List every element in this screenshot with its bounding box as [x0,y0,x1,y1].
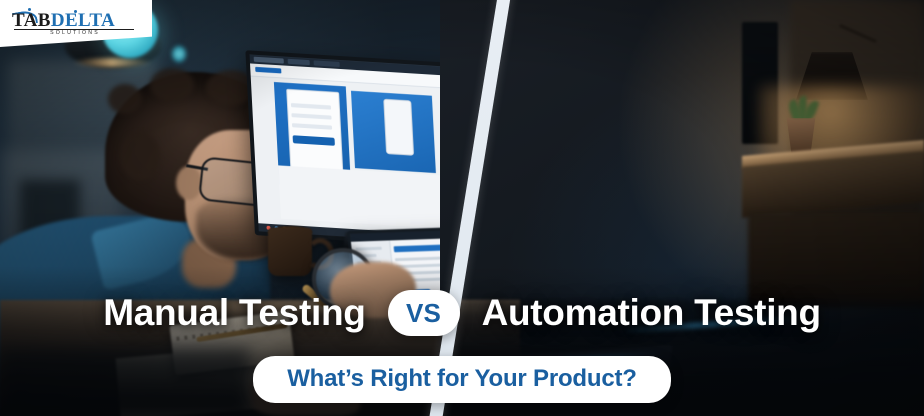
vs-label: VS [406,298,441,329]
headline-left: Manual Testing [103,292,365,334]
logo-text-delta: DELTA [51,10,115,31]
vs-badge: VS [388,290,460,336]
background-photo [0,0,924,416]
headline-right: Automation Testing [482,292,821,334]
brand-logo[interactable]: TABDELTA SOLUTIONS [12,9,144,39]
headline: Manual Testing VS Automation Testing [0,282,924,344]
logo-text-tab: TAB [12,10,51,31]
logo-tagline: SOLUTIONS [36,30,114,36]
logo-mark: TABDELTA SOLUTIONS [12,10,136,38]
cyan-lamp-secondary [172,46,186,62]
subtitle-text: What’s Right for Your Product? [287,365,637,392]
banner: TABDELTA SOLUTIONS Manual Testing VS Aut… [0,0,924,416]
subtitle-wrap: What’s Right for Your Product? [0,356,924,403]
subtitle-pill: What’s Right for Your Product? [253,356,671,403]
